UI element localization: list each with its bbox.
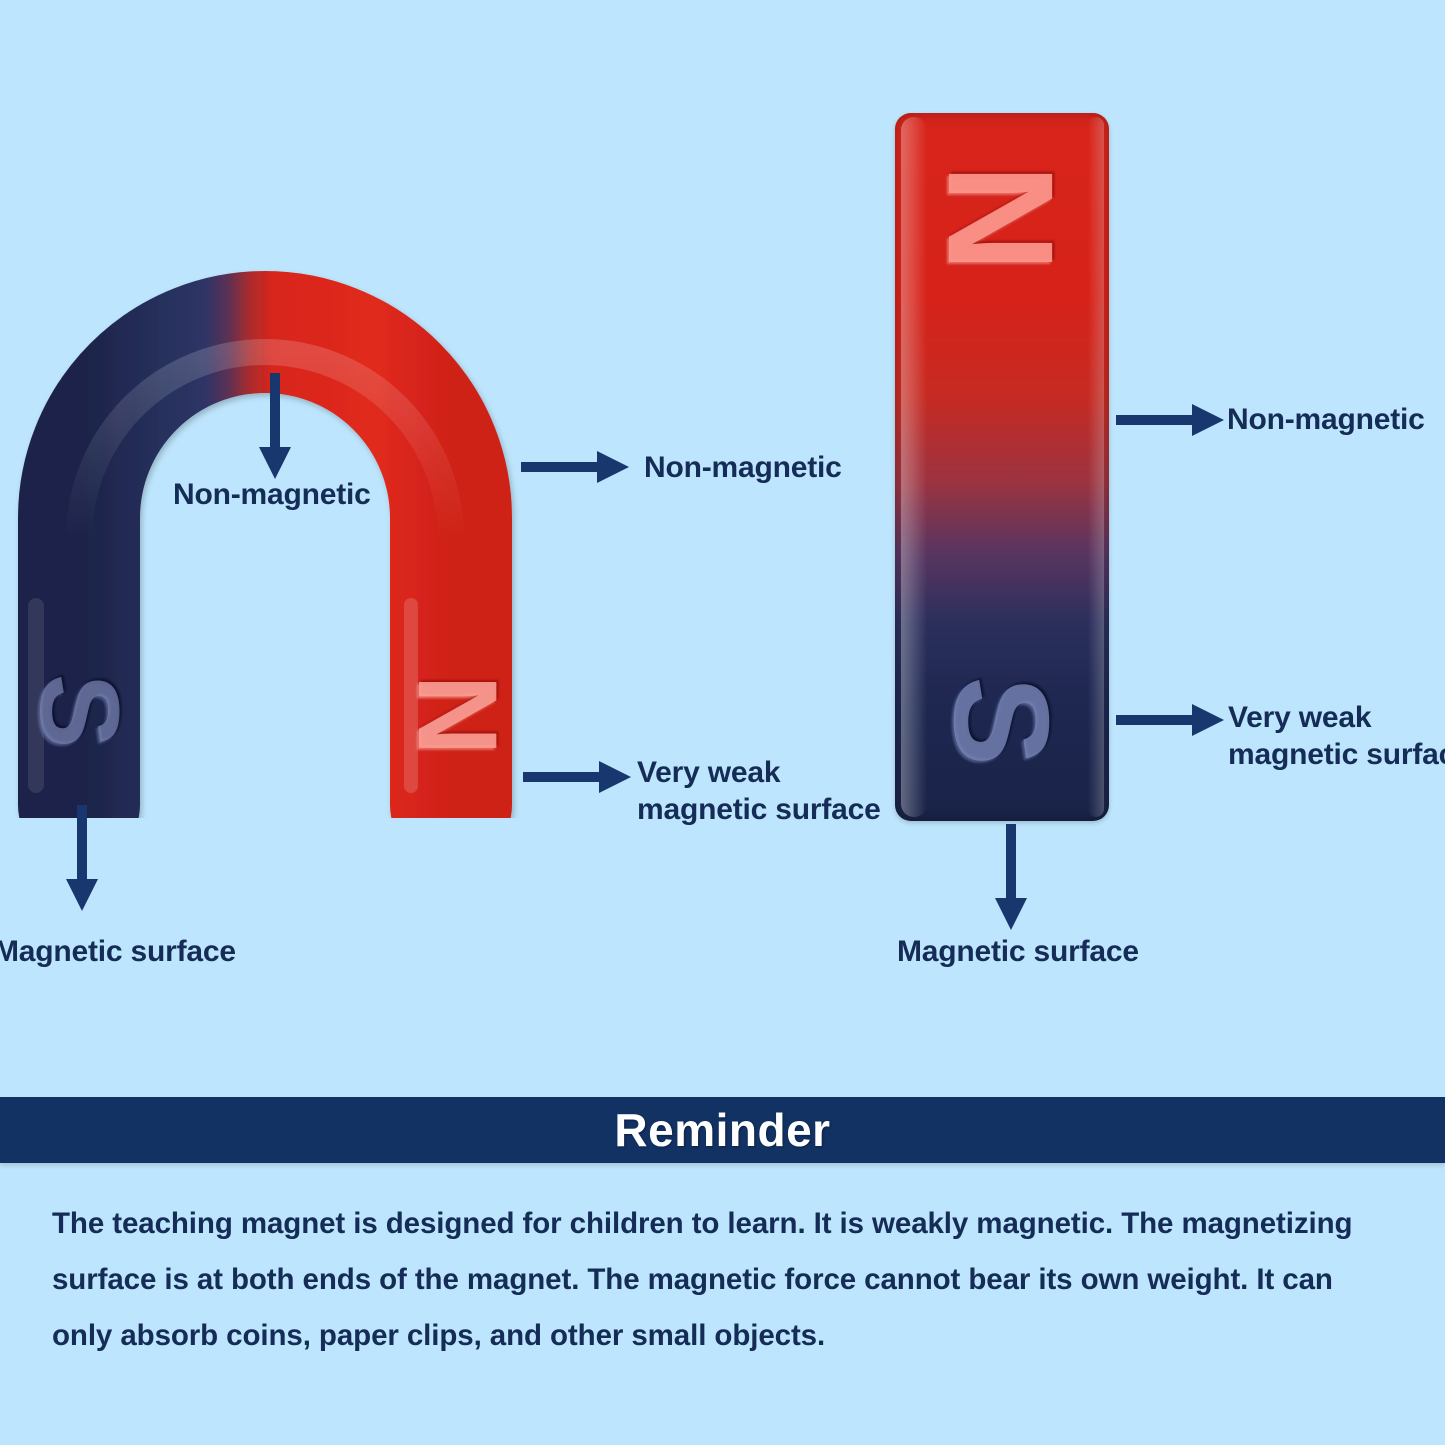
bar-magnet-highlight-right [1088, 117, 1104, 817]
reminder-body-text: The teaching magnet is designed for chil… [52, 1196, 1400, 1364]
label-bar-bottom: Magnetic surface [897, 934, 1139, 971]
arrow-down-bar-bottom [991, 824, 1031, 934]
label-bar-side-top: Non-magnetic [1227, 402, 1425, 439]
arrow-right-horseshoe-north-tip [523, 757, 633, 797]
label-bar-side-bottom-line2: magnetic surface [1228, 737, 1445, 774]
bar-magnet: N S [895, 113, 1109, 821]
label-horseshoe-north-tip-line1: Very weak [637, 755, 881, 792]
horseshoe-magnet: S N [0, 218, 560, 818]
label-horseshoe-outer-arc: Non-magnetic [644, 450, 842, 487]
arrow-right-horseshoe-outer [521, 447, 631, 487]
label-horseshoe-inner-arc: Non-magnetic [173, 477, 371, 514]
arrow-right-bar-side-top [1116, 400, 1226, 440]
bar-magnet-south-pole-letter: S [921, 651, 1081, 791]
label-bar-side-bottom: Very weak magnetic surface [1228, 700, 1445, 773]
label-horseshoe-north-tip-line2: magnetic surface [637, 792, 881, 829]
label-bar-side-bottom-line1: Very weak [1228, 700, 1445, 737]
arrow-down-horseshoe-inner [255, 373, 295, 483]
horseshoe-north-pole-letter: N [392, 650, 522, 780]
label-horseshoe-south-tip: Magnetic surface [0, 934, 236, 971]
reminder-banner: Reminder [0, 1097, 1445, 1163]
arrow-down-horseshoe-south-tip [62, 805, 102, 915]
horseshoe-south-pole-letter: S [14, 646, 144, 776]
arrow-right-bar-side-bottom [1116, 700, 1226, 740]
reminder-title: Reminder [614, 1103, 830, 1157]
infographic-page: S N N S [0, 0, 1445, 1445]
label-horseshoe-north-tip: Very weak magnetic surface [637, 755, 881, 828]
bar-magnet-north-pole-letter: N [916, 148, 1086, 288]
